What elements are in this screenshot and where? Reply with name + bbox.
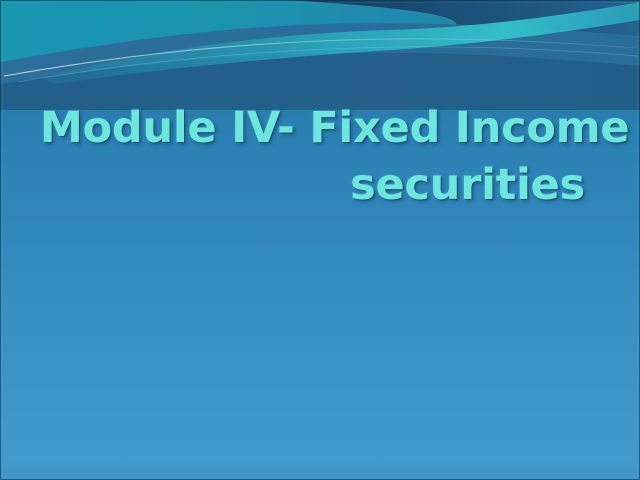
slide-title-line-1: Module IV- Fixed Income [40, 100, 585, 157]
slide-title-line-2: securities [40, 157, 585, 214]
wave-banner-decoration [0, 0, 640, 110]
slide-title: Module IV- Fixed Income securities [40, 100, 585, 214]
title-slide: Module IV- Fixed Income securities [0, 0, 640, 480]
